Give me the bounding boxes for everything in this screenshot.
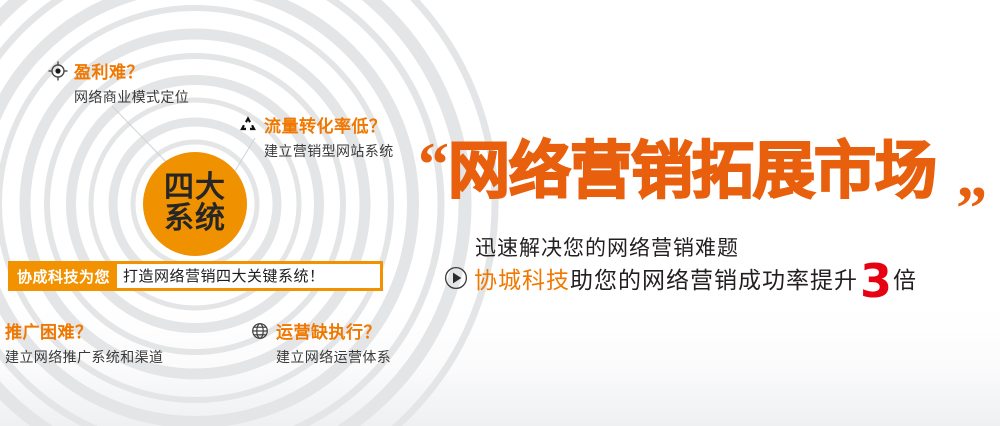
callout-conversion-subtitle: 建立营销型网站系统 [264,141,394,161]
callout-promotion-title: 推广困难？ [5,318,93,343]
quote-close-mark: ” [956,178,987,240]
subline-secondary-rest: 助您的网络营销成功率提升 [570,261,858,295]
callout-conversion-title: 流量转化率低？ [264,112,387,137]
callout-operation-title: 运营缺执行？ [276,318,381,343]
callout-promotion: 推广困难？ 建立网络推广系统和渠道 [5,318,163,367]
callout-conversion: 流量转化率低？ 建立营销型网站系统 [238,112,394,161]
strap-right-label: 打造网络营销四大关键系统！ [117,264,380,288]
marketing-banner: 四大 系统 盈利难？ 网络商业模式定位 [0,0,1000,426]
multiplier-unit: 倍 [893,261,916,295]
play-circle-icon [444,266,468,290]
callout-promotion-head: 推广困难？ [5,318,163,343]
strap-banner: 协成科技为您 打造网络营销四大关键系统！ [8,261,383,291]
strap-left-label: 协成科技为您 [8,266,117,287]
subline-secondary: 协城科技 助您的网络营销成功率提升 3 倍 [444,260,916,297]
brand-name: 协城科技 [474,261,570,295]
callout-operation-subtitle: 建立网络运营体系 [276,347,391,367]
callout-profit-head: 盈利难？ [48,58,189,83]
multiplier-number: 3 [860,263,892,300]
quote-open-mark: “ [418,134,449,196]
callout-promotion-subtitle: 建立网络推广系统和渠道 [5,347,163,367]
globe-icon [250,321,270,341]
center-badge-line2: 系统 [164,204,226,235]
headline-text: 网络营销拓展市场 [448,140,936,202]
callout-profit: 盈利难？ 网络商业模式定位 [48,58,189,107]
callout-profit-title: 盈利难？ [74,58,144,83]
target-icon [48,61,68,81]
subline-primary: 迅速解决您的网络营销难题 [475,232,739,262]
center-badge-line1: 四大 [164,173,226,204]
callout-profit-subtitle: 网络商业模式定位 [74,87,189,107]
callout-operation: 运营缺执行？ 建立网络运营体系 [250,318,391,367]
center-badge-text: 四大 系统 [143,152,247,256]
center-badge: 四大 系统 [143,152,247,256]
callout-conversion-head: 流量转化率低？ [238,112,394,137]
callout-operation-head: 运营缺执行？ [250,318,391,343]
recycle-icon [238,115,258,135]
